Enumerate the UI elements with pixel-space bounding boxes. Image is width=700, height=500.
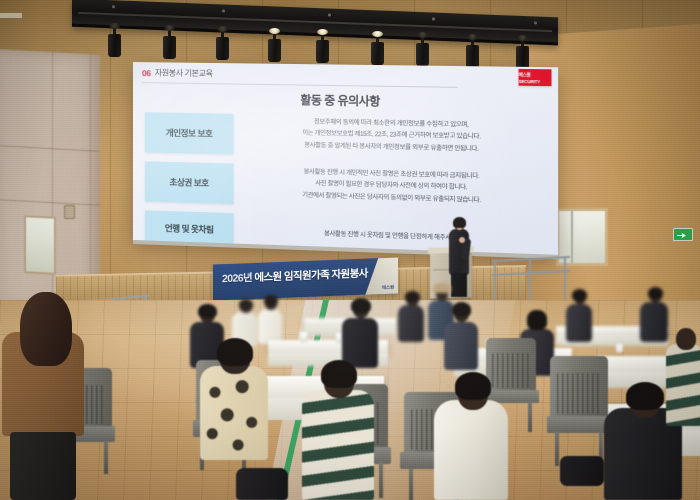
attendee xyxy=(640,288,668,342)
slide-row: 개인정보 보호 정보주체의 동의에 따라 최소한의 개인정보를 수집하고 있으며… xyxy=(145,112,547,162)
paper-cup xyxy=(300,332,307,341)
slide-row-tag: 초상권 보호 xyxy=(145,161,234,204)
photo-scene: 06 자원봉사 기본교육 에스원 SECURITY 활동 중 유의사항 개인정보… xyxy=(0,0,700,500)
attendee xyxy=(566,290,592,342)
presenter xyxy=(446,218,472,296)
bag xyxy=(236,468,288,500)
slide-row-tag: 개인정보 보호 xyxy=(145,112,234,154)
event-banner-title: 에스원 임직원가족 자원봉사 xyxy=(254,268,367,284)
plastic-chair xyxy=(550,356,608,464)
attendee xyxy=(444,304,478,370)
attendee xyxy=(258,296,282,344)
event-banner-text: 2026년 에스원 임직원가족 자원봉사 xyxy=(222,266,368,287)
attendee xyxy=(666,330,700,426)
slide-row-body: 봉사활동 진행 시 옷차림 및 언행을 단정하게 해주세요. xyxy=(234,213,547,247)
stage-handrail xyxy=(492,256,570,304)
slide-row: 초상권 보호 봉사활동 진행 시 개인적인 사진 촬영은 초상권 보호에 따라 … xyxy=(145,161,547,213)
exit-sign-plate xyxy=(0,13,22,18)
event-banner-year: 2026년 xyxy=(222,272,252,285)
event-banner-sponsor: 에스원 xyxy=(382,285,394,291)
attendee xyxy=(342,300,378,368)
slide-section-number: 06 xyxy=(142,68,151,78)
slide-row-body: 정보주체의 동의에 따라 최소한의 개인정보를 수집하고 있으며, 이는 개인정… xyxy=(234,114,547,157)
bag xyxy=(560,456,604,486)
slide-title: 활동 중 유의사항 xyxy=(133,89,558,113)
presenter-hair xyxy=(453,217,466,228)
slide-row-line: 봉사활동 진행 시 옷차림 및 언행을 단정하게 해주세요. xyxy=(244,226,543,248)
event-banner: 2026년 에스원 임직원가족 자원봉사 에스원 xyxy=(213,257,398,300)
slide-row-body: 봉사활동 진행 시 개인적인 사진 촬영은 초상권 보호에 따라 금지됩니다. … xyxy=(234,164,547,208)
attendee xyxy=(302,370,374,500)
wall-speaker-icon xyxy=(64,205,75,219)
window-left xyxy=(24,215,56,275)
projection-screen: 06 자원봉사 기본교육 에스원 SECURITY 활동 중 유의사항 개인정보… xyxy=(133,62,558,255)
attendee xyxy=(434,378,508,500)
slide-section-title: 자원봉사 기본교육 xyxy=(155,67,213,79)
company-logo: 에스원 SECURITY xyxy=(519,69,552,86)
standing-attendee-hair xyxy=(20,292,72,366)
paper-cup xyxy=(616,344,623,353)
attendee xyxy=(398,292,424,342)
presentation-slide: 06 자원봉사 기본교육 에스원 SECURITY 활동 중 유의사항 개인정보… xyxy=(133,62,558,255)
standing-attendee xyxy=(2,296,84,500)
attendee xyxy=(200,352,268,460)
company-logo-text: 에스원 SECURITY xyxy=(519,71,552,85)
slide-content-rows: 개인정보 보호 정보주체의 동의에 따라 최소한의 개인정보를 수집하고 있으며… xyxy=(145,112,547,255)
exit-sign-icon xyxy=(673,228,693,241)
presenter-hand xyxy=(459,237,465,243)
standing-attendee-legs xyxy=(10,432,76,500)
